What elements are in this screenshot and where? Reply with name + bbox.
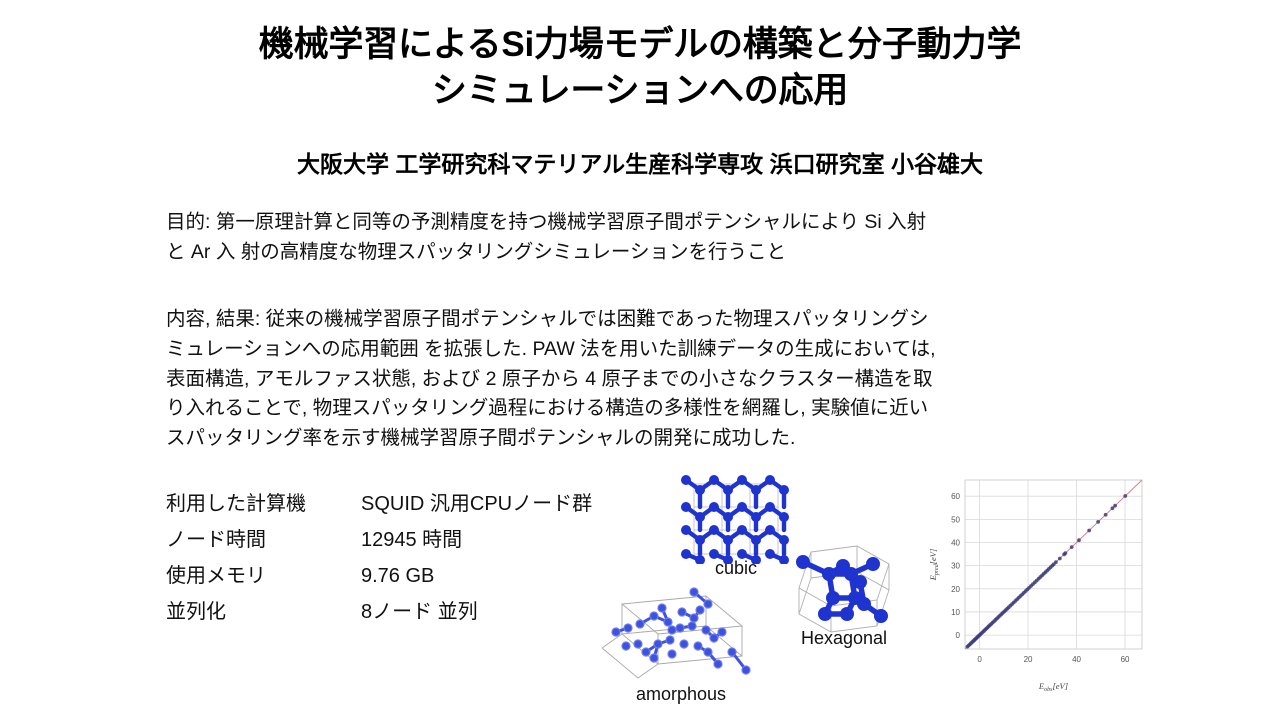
resource-label: ノード時間 xyxy=(166,530,361,550)
hexagonal-structure-figure xyxy=(781,538,907,638)
purpose-line: と Ar 入 射の高精度な物理スパッタリングシミュレーションを行うこと xyxy=(166,238,1116,268)
hexagonal-lattice-icon xyxy=(781,538,907,638)
parity-scatter-chart: 02040600102030405060Eobs[eV]Epred[eV] xyxy=(925,470,1150,695)
page-title-line-1: 機械学習によるSi力場モデルの構築と分子動力学 xyxy=(90,22,1190,68)
svg-text:Epred[eV]: Epred[eV] xyxy=(928,549,940,582)
svg-text:10: 10 xyxy=(951,608,960,617)
page-title-line-2: シミュレーションへの応用 xyxy=(90,68,1190,114)
resource-value: 12945 時間 xyxy=(361,530,462,550)
svg-text:20: 20 xyxy=(951,585,960,594)
scatter-plot-svg: 02040600102030405060Eobs[eV]Epred[eV] xyxy=(925,470,1150,695)
results-line: り入れることで, 物理スパッタリング過程における構造の多様性を網羅し, 実験値に… xyxy=(166,394,1116,424)
svg-text:40: 40 xyxy=(1072,655,1081,664)
page-title: 機械学習によるSi力場モデルの構築と分子動力学 シミュレーションへの応用 xyxy=(90,22,1190,114)
purpose-line: 目的: 第一原理計算と同等の予測精度を持つ機械学習原子間ポテンシャルにより Si… xyxy=(166,208,1116,238)
amorphous-structure-caption: amorphous xyxy=(596,684,766,705)
amorphous-cell-icon xyxy=(596,582,766,687)
compute-resource-table: 利用した計算機 SQUID 汎用CPUノード群 ノード時間 12945 時間 使… xyxy=(166,494,592,638)
results-line: 内容, 結果: 従来の機械学習原子間ポテンシャルでは困難であった物理スパッタリン… xyxy=(166,305,1116,335)
table-row: 利用した計算機 SQUID 汎用CPUノード群 xyxy=(166,494,592,530)
purpose-paragraph: 目的: 第一原理計算と同等の予測精度を持つ機械学習原子間ポテンシャルにより Si… xyxy=(166,208,1116,268)
svg-text:40: 40 xyxy=(951,539,960,548)
svg-text:60: 60 xyxy=(951,492,960,501)
results-paragraph: 内容, 結果: 従来の機械学習原子間ポテンシャルでは困難であった物理スパッタリン… xyxy=(166,305,1116,454)
results-line: 表面構造, アモルファス状態, および 2 原子から 4 原子までの小さなクラス… xyxy=(166,365,1116,395)
hexagonal-structure-caption: Hexagonal xyxy=(781,628,907,649)
resource-label: 並列化 xyxy=(166,602,361,622)
affiliation-line: 大阪大学 工学研究科マテリアル生産科学専攻 浜口研究室 小谷雄大 xyxy=(90,145,1190,179)
table-row: 並列化 8ノード 並列 xyxy=(166,602,592,638)
resource-label: 利用した計算機 xyxy=(166,494,361,514)
resource-label: 使用メモリ xyxy=(166,566,361,586)
svg-text:30: 30 xyxy=(951,562,960,571)
svg-text:50: 50 xyxy=(951,515,960,524)
svg-text:0: 0 xyxy=(956,631,961,640)
svg-text:20: 20 xyxy=(1024,655,1033,664)
svg-text:60: 60 xyxy=(1121,655,1130,664)
resource-value: 9.76 GB xyxy=(361,566,434,586)
resource-value: 8ノード 並列 xyxy=(361,602,478,622)
table-row: ノード時間 12945 時間 xyxy=(166,530,592,566)
results-line: スパッタリング率を示す機械学習原子間ポテンシャルの開発に成功した. xyxy=(166,424,1116,454)
svg-text:0: 0 xyxy=(977,655,982,664)
table-row: 使用メモリ 9.76 GB xyxy=(166,566,592,602)
results-line: ミュレーションへの応用範囲 を拡張した. PAW 法を用いた訓練データの生成にお… xyxy=(166,335,1116,365)
resource-value: SQUID 汎用CPUノード群 xyxy=(361,494,592,514)
amorphous-structure-figure xyxy=(596,582,766,687)
svg-text:Eobs[eV]: Eobs[eV] xyxy=(1038,681,1068,693)
